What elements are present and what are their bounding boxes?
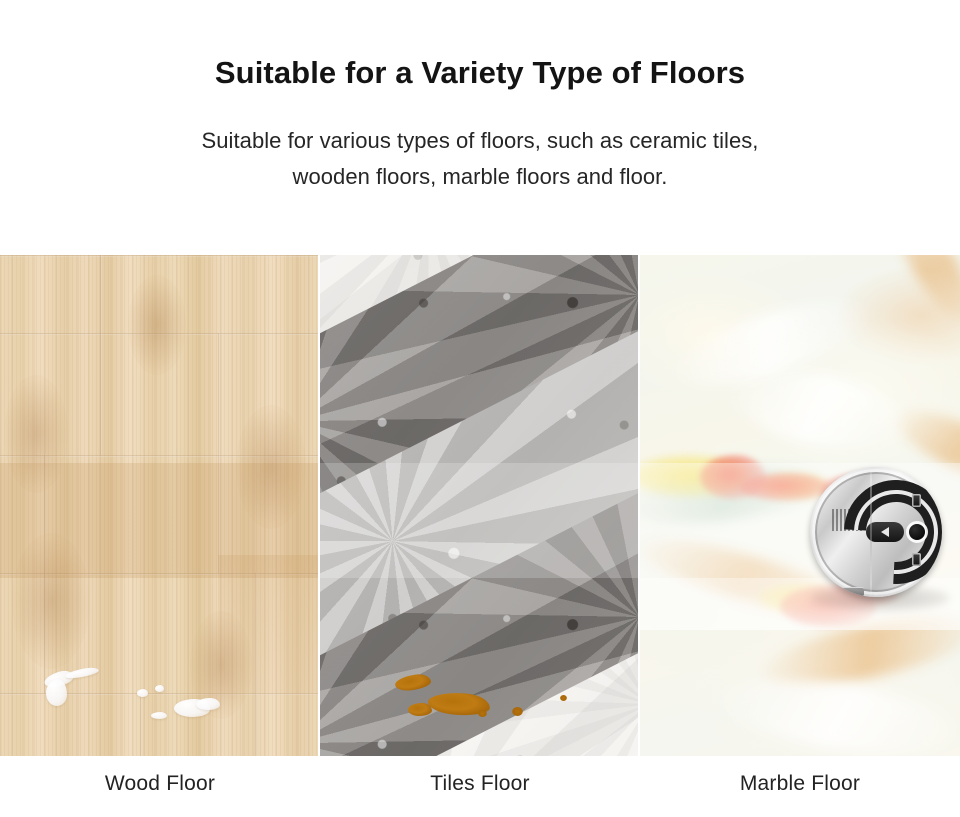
liquid-droplet bbox=[560, 695, 567, 701]
wood-plank-joint bbox=[100, 255, 102, 455]
water-droplet bbox=[155, 685, 164, 692]
food-spill-pink bbox=[740, 473, 830, 501]
page-title: Suitable for a Variety Type of Floors bbox=[0, 54, 960, 91]
header-section: Suitable for a Variety Type of Floors Su… bbox=[0, 0, 960, 194]
caption-row: Wood Floor Tiles Floor Marble Floor bbox=[0, 756, 960, 817]
wood-grain-knot bbox=[236, 405, 306, 529]
floor-image-wood bbox=[0, 255, 318, 756]
water-droplet bbox=[151, 712, 167, 719]
wood-grain-knot bbox=[4, 375, 68, 493]
liquid-stain bbox=[408, 703, 432, 716]
subtitle-line-2: wooden floors, marble floors and floor. bbox=[0, 159, 960, 195]
liquid-droplet bbox=[512, 707, 523, 716]
floor-type-gallery bbox=[0, 255, 960, 756]
subtitle-block: Suitable for various types of floors, su… bbox=[0, 123, 960, 194]
floor-image-marble bbox=[640, 255, 960, 756]
robot-bumper bbox=[830, 587, 864, 596]
water-droplet bbox=[46, 679, 67, 706]
caption-wood: Wood Floor bbox=[0, 756, 320, 817]
wood-plank-tone bbox=[218, 555, 318, 693]
wood-plank-seam bbox=[0, 255, 318, 257]
power-button[interactable] bbox=[909, 524, 925, 540]
robot-vacuum[interactable] bbox=[810, 467, 942, 597]
subtitle-line-1: Suitable for various types of floors, su… bbox=[0, 123, 960, 159]
floor-image-tiles bbox=[320, 255, 638, 756]
caption-tiles: Tiles Floor bbox=[320, 756, 640, 817]
water-droplet bbox=[137, 689, 148, 697]
wood-plank-joint bbox=[140, 693, 142, 756]
wood-grain-knot bbox=[128, 275, 186, 375]
water-droplet bbox=[196, 698, 220, 710]
wood-plank-joint bbox=[218, 333, 220, 573]
play-icon[interactable] bbox=[881, 527, 889, 537]
wood-grain-knot bbox=[12, 533, 90, 669]
liquid-droplet bbox=[478, 710, 487, 717]
sensor-window-top-icon bbox=[912, 494, 921, 507]
caption-marble: Marble Floor bbox=[640, 756, 960, 817]
sensor-window-bottom-icon bbox=[912, 553, 921, 566]
robot-seam bbox=[870, 467, 872, 597]
